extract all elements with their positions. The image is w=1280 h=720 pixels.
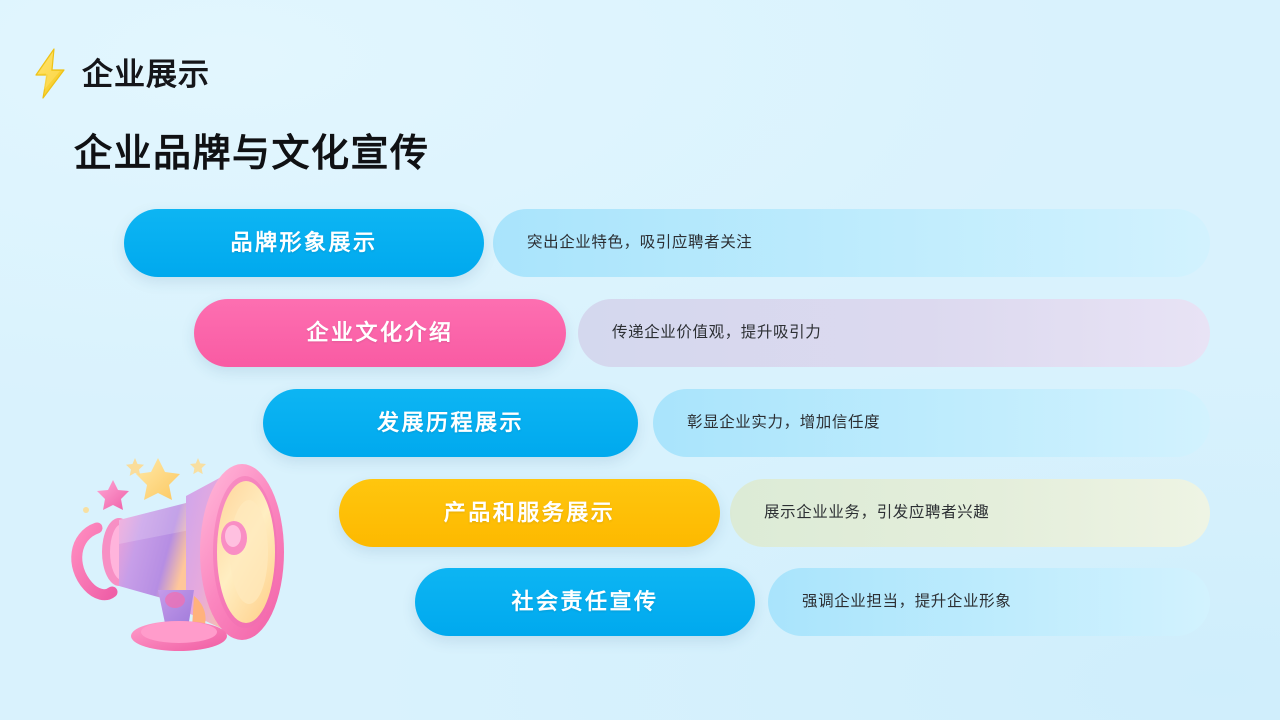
description-panel-4: 展示企业业务，引发应聘者兴趣: [730, 479, 1210, 547]
description-panel-3: 彰显企业实力，增加信任度: [653, 389, 1210, 457]
description-panel-2: 传递企业价值观，提升吸引力: [578, 299, 1210, 367]
description-text-5: 强调企业担当，提升企业形象: [802, 592, 1011, 612]
topic-pill-3[interactable]: 发展历程展示: [263, 389, 638, 457]
topic-label-5: 社会责任宣传: [511, 591, 658, 613]
description-panel-5: 强调企业担当，提升企业形象: [768, 568, 1210, 636]
topic-pill-5[interactable]: 社会责任宣传: [415, 568, 755, 636]
topic-pill-2[interactable]: 企业文化介绍: [194, 299, 566, 367]
description-text-2: 传递企业价值观，提升吸引力: [612, 323, 821, 343]
topic-pill-1[interactable]: 品牌形象展示: [124, 209, 484, 277]
content-rows: 突出企业特色，吸引应聘者关注 品牌形象展示 传递企业价值观，提升吸引力 企业文化…: [0, 0, 1280, 720]
description-text-3: 彰显企业实力，增加信任度: [687, 413, 880, 433]
presentation-slide: 企业展示 企业品牌与文化宣传: [0, 0, 1280, 720]
topic-label-2: 企业文化介绍: [306, 322, 453, 344]
topic-label-3: 发展历程展示: [377, 412, 524, 434]
topic-pill-4[interactable]: 产品和服务展示: [339, 479, 720, 547]
topic-label-4: 产品和服务展示: [444, 502, 616, 524]
description-panel-1: 突出企业特色，吸引应聘者关注: [493, 209, 1210, 277]
description-text-1: 突出企业特色，吸引应聘者关注: [527, 233, 752, 253]
description-text-4: 展示企业业务，引发应聘者兴趣: [764, 503, 989, 523]
topic-label-1: 品牌形象展示: [230, 232, 377, 254]
